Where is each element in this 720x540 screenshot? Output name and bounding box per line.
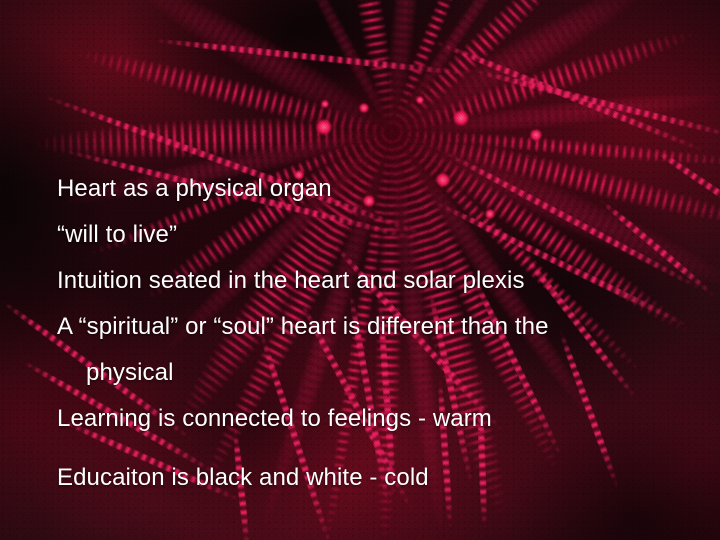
slide-text-line: Learning is connected to feelings - warm xyxy=(57,396,657,442)
presentation-slide: Heart as a physical organ“will to live”I… xyxy=(0,0,720,540)
slide-text-line: Heart as a physical organ xyxy=(57,166,657,212)
slide-text-line: A “spiritual” or “soul” heart is differe… xyxy=(57,304,657,350)
slide-text-line: Educaiton is black and white - cold xyxy=(57,455,657,501)
slide-text-line: Intuition seated in the heart and solar … xyxy=(57,258,657,304)
slide-text-line: physical xyxy=(57,350,657,396)
slide-body-text: Heart as a physical organ“will to live”I… xyxy=(57,166,657,501)
slide-text-line: “will to live” xyxy=(57,212,657,258)
